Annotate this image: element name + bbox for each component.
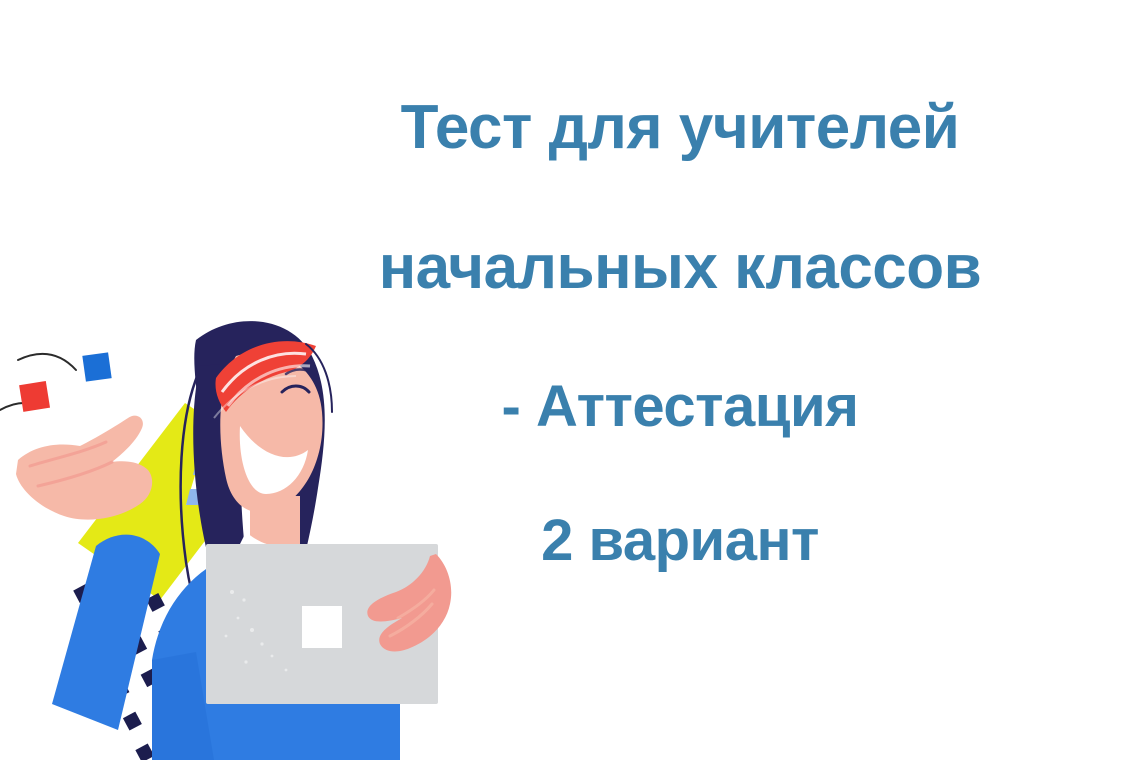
raised-left-hand [16,416,152,520]
title-line-1: Тест для учителей [300,58,1060,198]
laptop-logo-square [302,606,342,648]
slide-canvas: Тест для учителей начальных классов - Ат… [0,0,1140,760]
woman-with-laptop-illustration [0,300,520,760]
confetti-blue-square [82,352,111,381]
confetti-red-square [19,381,50,412]
